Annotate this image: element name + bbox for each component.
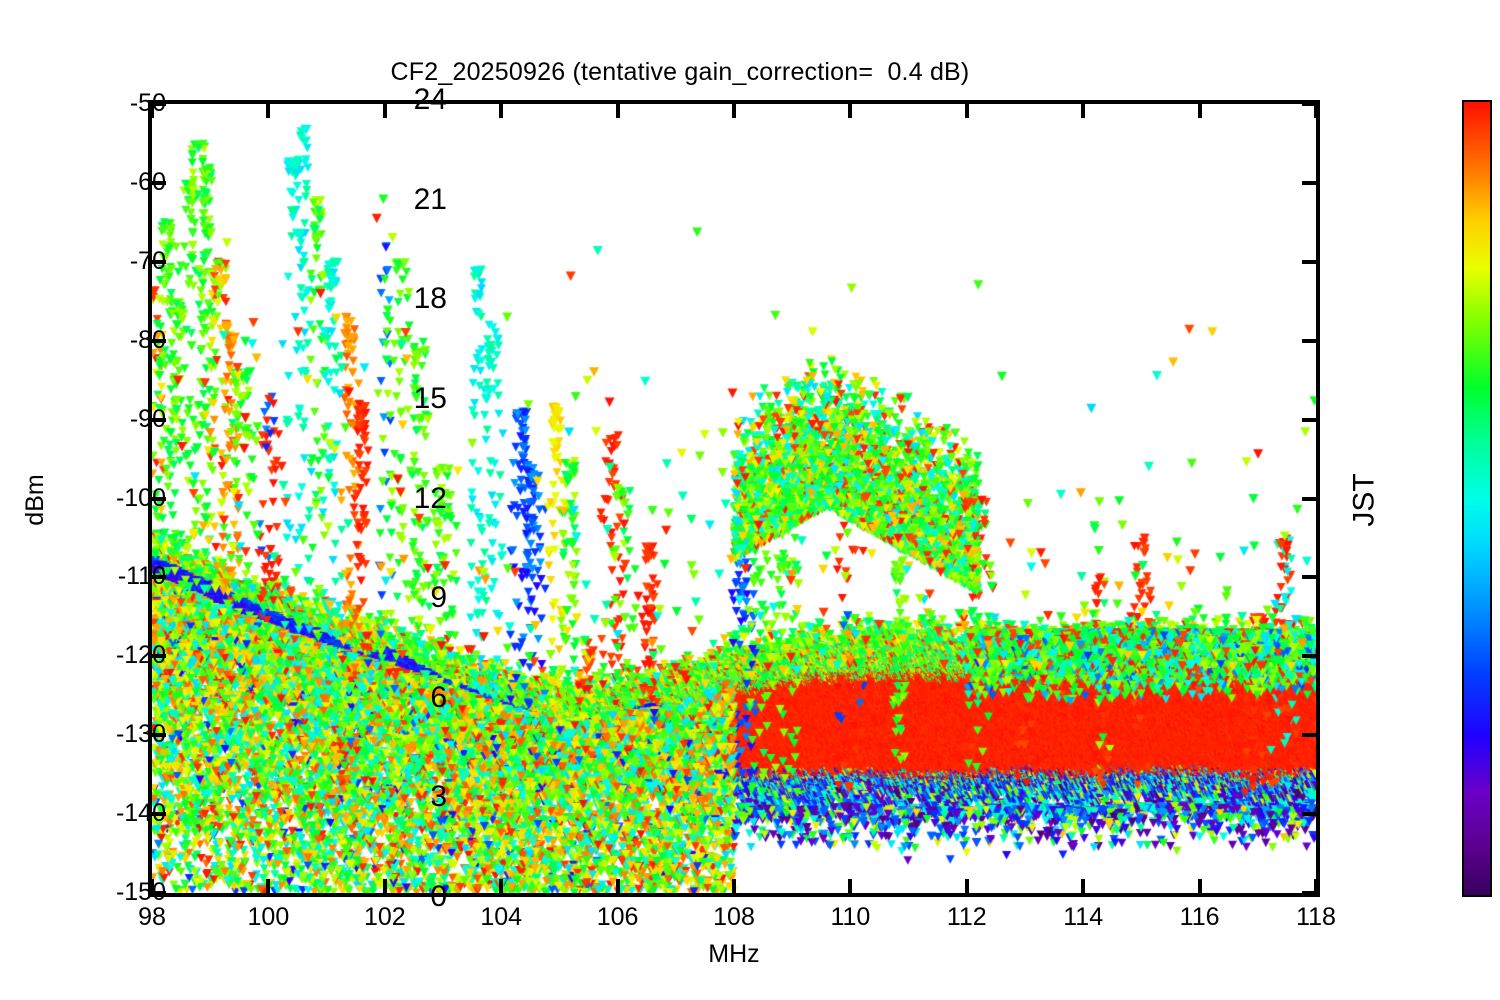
chart-title: CF2_20250926 (tentative gain_correction=… <box>0 58 1360 87</box>
y-tick-label-2: -70 <box>130 249 166 274</box>
plot-area <box>148 100 1320 897</box>
x-tick-label-3: 104 <box>451 905 551 930</box>
colorbar-tick-label-3: 9 <box>430 583 447 613</box>
y-tick-label-6: -110 <box>118 564 166 589</box>
x-tick-7 <box>965 879 969 893</box>
y-tick-9 <box>1302 812 1316 816</box>
colorbar-tick-label-1: 3 <box>430 782 447 812</box>
colorbar-tick-label-0: 0 <box>430 882 447 912</box>
x-tick-label-2: 102 <box>335 905 435 930</box>
colorbar-tick-label-2: 6 <box>430 683 447 713</box>
colorbar-title: JST <box>1348 473 1382 526</box>
y-tick-1 <box>1302 181 1316 185</box>
x-tick-1 <box>266 104 270 118</box>
x-tick-3 <box>499 879 503 893</box>
x-tick-8 <box>1081 879 1085 893</box>
y-tick-label-7: -120 <box>116 643 166 668</box>
x-tick-6 <box>848 879 852 893</box>
x-tick-9 <box>1198 104 1202 118</box>
x-tick-5 <box>732 879 736 893</box>
x-tick-label-10: 118 <box>1266 905 1366 930</box>
x-tick-9 <box>1198 879 1202 893</box>
y-tick-7 <box>1302 654 1316 658</box>
x-tick-label-7: 112 <box>917 905 1017 930</box>
y-tick-label-5: -100 <box>116 486 166 511</box>
colorbar-tick-label-4: 12 <box>414 484 447 514</box>
colorbar-gradient <box>1464 102 1490 895</box>
x-tick-2 <box>383 879 387 893</box>
x-tick-10 <box>1314 879 1318 893</box>
scatter-plot-canvas <box>152 104 1316 893</box>
colorbar-tick-label-8: 24 <box>414 85 447 115</box>
colorbar-tick-label-5: 15 <box>414 384 447 414</box>
y-tick-4 <box>1302 418 1316 422</box>
x-axis-title: MHz <box>148 940 1320 969</box>
x-tick-4 <box>616 104 620 118</box>
x-tick-3 <box>499 104 503 118</box>
y-tick-label-9: -140 <box>116 801 166 826</box>
x-tick-label-9: 116 <box>1150 905 1250 930</box>
x-tick-7 <box>965 104 969 118</box>
x-tick-6 <box>848 104 852 118</box>
x-tick-10 <box>1314 104 1318 118</box>
y-tick-6 <box>1302 575 1316 579</box>
y-tick-2 <box>1302 260 1316 264</box>
x-tick-label-4: 106 <box>568 905 668 930</box>
x-tick-5 <box>732 104 736 118</box>
x-tick-1 <box>266 879 270 893</box>
y-tick-label-1: -60 <box>130 170 166 195</box>
colorbar-tick-label-7: 21 <box>414 185 447 215</box>
y-tick-3 <box>1302 339 1316 343</box>
y-axis-title: dBm <box>21 474 50 525</box>
y-tick-label-3: -80 <box>130 328 166 353</box>
y-tick-label-0: -50 <box>130 91 166 116</box>
x-tick-2 <box>383 104 387 118</box>
x-tick-label-1: 100 <box>218 905 318 930</box>
y-tick-label-10: -150 <box>116 880 166 905</box>
x-tick-label-5: 108 <box>684 905 784 930</box>
x-tick-label-8: 114 <box>1033 905 1133 930</box>
y-tick-label-8: -130 <box>116 722 166 747</box>
y-tick-8 <box>1302 733 1316 737</box>
x-tick-label-6: 110 <box>800 905 900 930</box>
x-tick-8 <box>1081 104 1085 118</box>
x-tick-label-0: 98 <box>102 905 202 930</box>
y-tick-label-4: -90 <box>130 407 166 432</box>
x-tick-4 <box>616 879 620 893</box>
y-tick-5 <box>1302 497 1316 501</box>
colorbar <box>1462 100 1492 897</box>
colorbar-tick-label-6: 18 <box>414 284 447 314</box>
